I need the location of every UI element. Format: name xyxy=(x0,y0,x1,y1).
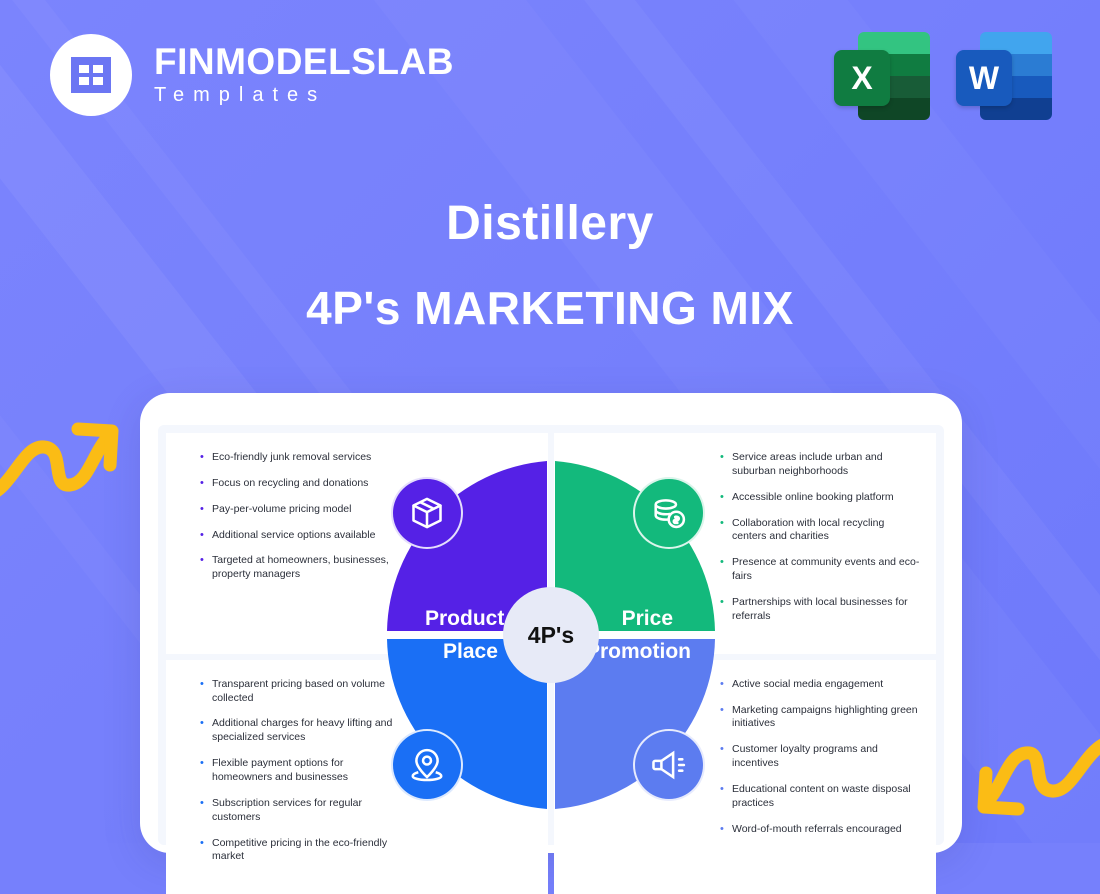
list-item: Transparent pricing based on volume coll… xyxy=(200,678,400,706)
list-item: Collaboration with local recycling cente… xyxy=(720,517,920,545)
title-block: Distillery 4P's MARKETING MIX xyxy=(0,196,1100,335)
list-item: Flexible payment options for homeowners … xyxy=(200,757,400,785)
list-item: Customer loyalty programs and incentives xyxy=(720,743,920,771)
excel-icon[interactable]: X xyxy=(834,28,930,124)
list-item: Competitive pricing in the eco-friendly … xyxy=(200,837,400,865)
list-item: Eco-friendly junk removal services xyxy=(200,451,400,465)
quadrant-grid: Eco-friendly junk removal services Focus… xyxy=(166,433,936,837)
list-item: Pay-per-volume pricing model xyxy=(200,503,400,517)
list-item: Educational content on waste disposal pr… xyxy=(720,783,920,811)
page-title: Distillery xyxy=(0,196,1100,253)
bullet-list-price: Service areas include urban and suburban… xyxy=(720,451,920,636)
grid-logo-icon xyxy=(71,57,111,93)
word-icon[interactable]: W xyxy=(956,28,1052,124)
bullet-list-place: Transparent pricing based on volume coll… xyxy=(200,678,400,877)
quadrant-text-promotion: Active social media engagement Marketing… xyxy=(554,660,936,894)
list-item: Marketing campaigns highlighting green i… xyxy=(720,704,920,732)
bullet-list-promotion: Active social media engagement Marketing… xyxy=(720,678,920,849)
quadrant-text-place: Transparent pricing based on volume coll… xyxy=(166,660,548,894)
quadrant-text-price: Service areas include urban and suburban… xyxy=(554,433,936,654)
list-item: Targeted at homeowners, businesses, prop… xyxy=(200,554,400,582)
list-item: Additional charges for heavy lifting and… xyxy=(200,717,400,745)
content-card: Eco-friendly junk removal services Focus… xyxy=(140,393,962,853)
bullet-list-product: Eco-friendly junk removal services Focus… xyxy=(200,451,400,594)
squiggle-arrow-up-right-icon xyxy=(0,405,122,505)
quadrant-text-product: Eco-friendly junk removal services Focus… xyxy=(166,433,548,654)
list-item: Presence at community events and eco-fai… xyxy=(720,556,920,584)
diagram-panel: Eco-friendly junk removal services Focus… xyxy=(158,425,944,845)
brand-header: FINMODELSLAB Templates xyxy=(50,34,454,116)
list-item: Accessible online booking platform xyxy=(720,491,920,505)
list-item: Word-of-mouth referrals encouraged xyxy=(720,823,920,837)
logo-mark xyxy=(50,34,132,116)
squiggle-arrow-down-left-icon xyxy=(974,735,1100,835)
list-item: Subscription services for regular custom… xyxy=(200,797,400,825)
brand-name: FINMODELSLAB xyxy=(154,43,454,82)
page-subtitle: 4P's MARKETING MIX xyxy=(0,281,1100,335)
list-item: Additional service options available xyxy=(200,529,400,543)
list-item: Focus on recycling and donations xyxy=(200,477,400,491)
file-format-icons: X W xyxy=(834,28,1052,124)
brand-subtitle: Templates xyxy=(154,84,454,107)
word-badge-letter: W xyxy=(956,50,1012,106)
list-item: Service areas include urban and suburban… xyxy=(720,451,920,479)
list-item: Partnerships with local businesses for r… xyxy=(720,596,920,624)
list-item: Active social media engagement xyxy=(720,678,920,692)
excel-badge-letter: X xyxy=(834,50,890,106)
brand-text: FINMODELSLAB Templates xyxy=(154,43,454,107)
